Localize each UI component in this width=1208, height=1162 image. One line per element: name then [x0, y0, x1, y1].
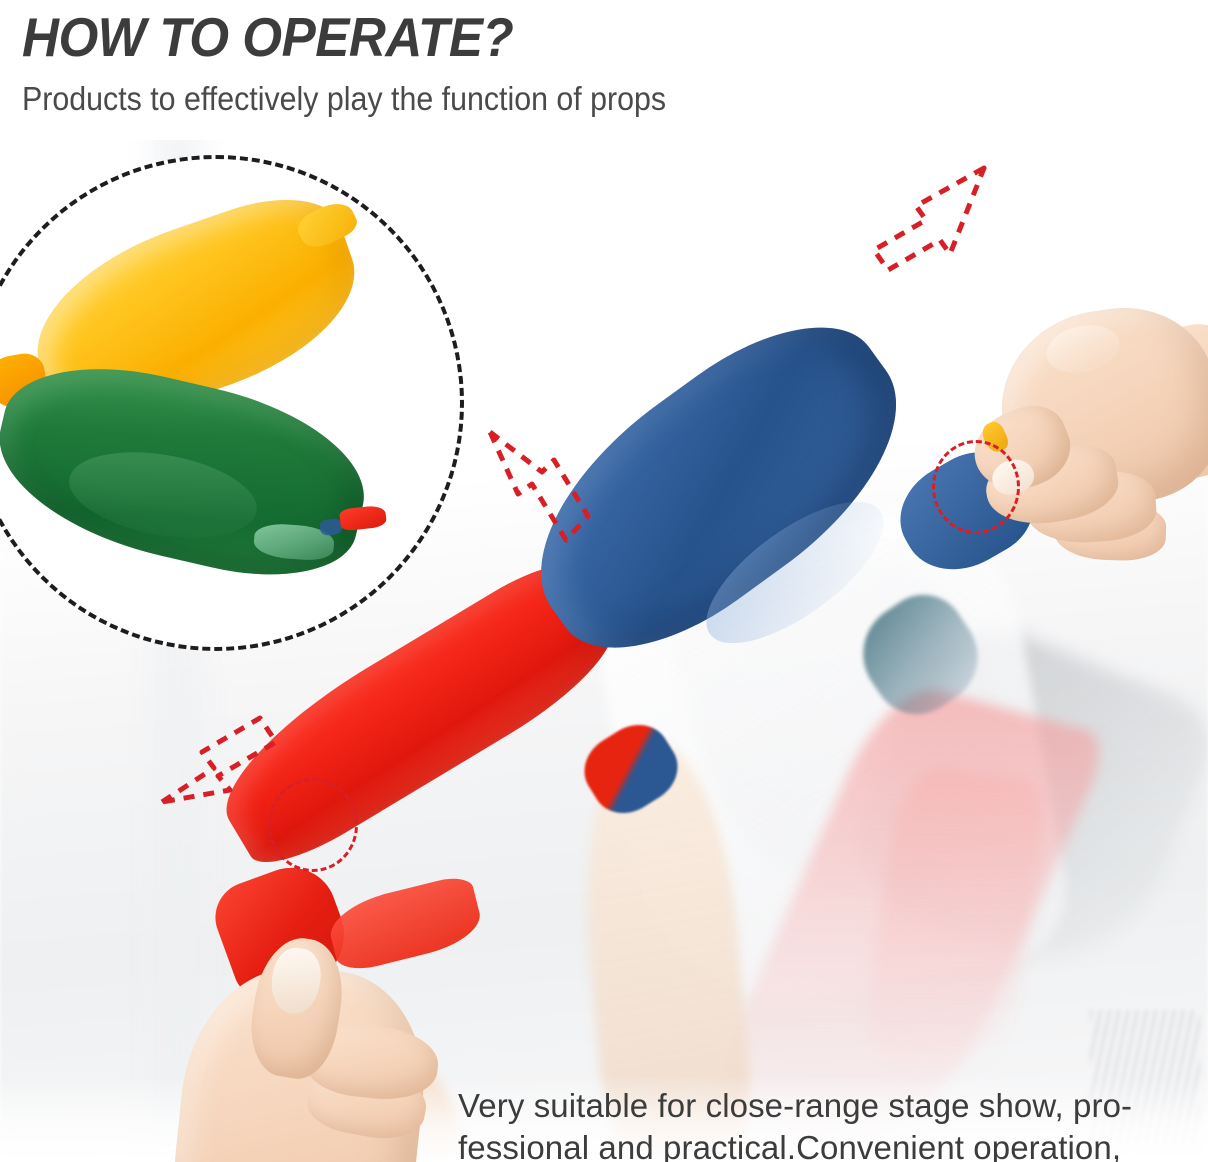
caption-line-2: fessional and practical.Convenient opera…: [458, 1127, 1158, 1162]
header-band: HOW TO OPERATE? Products to effectively …: [0, 0, 1208, 140]
photo-stage: Very suitable for close-range stage show…: [0, 130, 1208, 1162]
pull-up-left-arrow-icon: [480, 420, 610, 580]
inset-detail-callout: [0, 155, 464, 651]
caption-line-1: Very suitable for close-range stage show…: [458, 1085, 1158, 1127]
pull-up-right-arrow-icon: [856, 158, 996, 298]
product-infographic: HOW TO OPERATE? Products to effectively …: [0, 0, 1208, 1162]
page-title: HOW TO OPERATE?: [22, 5, 513, 69]
page-subtitle: Products to effectively play the functio…: [22, 80, 666, 118]
lower-grip-highlight-circle: [268, 778, 358, 872]
feature-caption: Very suitable for close-range stage show…: [458, 1085, 1158, 1162]
upper-grip-highlight-circle: [932, 440, 1020, 534]
